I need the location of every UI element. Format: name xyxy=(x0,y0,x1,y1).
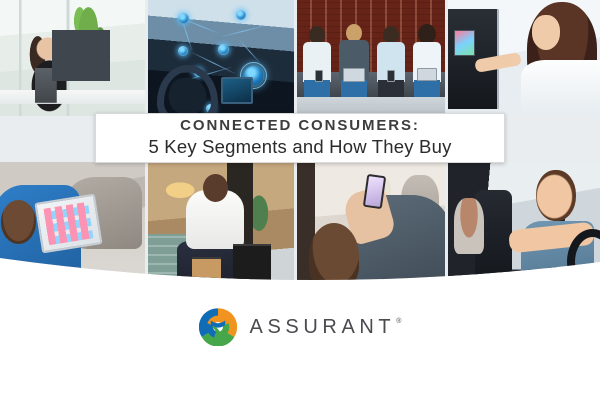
head-shape xyxy=(309,223,359,290)
person-figure xyxy=(335,18,373,116)
shopping-bag xyxy=(192,257,221,290)
person-figure xyxy=(299,18,335,116)
brand-name-text: ASSURANT xyxy=(250,316,396,339)
center-console-screen xyxy=(221,77,253,105)
assurant-wordmark: ASSURANT ® xyxy=(250,316,402,339)
blouse-shape xyxy=(521,60,600,116)
droplet-icon xyxy=(178,46,188,56)
phone-icon xyxy=(236,10,246,20)
passenger-shape xyxy=(454,198,484,254)
photo-man-driving-car xyxy=(448,162,600,290)
photo-man-steps-shopping-bags xyxy=(148,162,294,290)
tablet-device xyxy=(34,193,102,253)
page-title-primary: CONNECTED CONSUMERS: xyxy=(180,118,420,135)
car-icon xyxy=(218,44,229,55)
brand-logo: ASSURANT ® xyxy=(0,308,600,346)
person-figure xyxy=(409,18,445,116)
driver-head-shape xyxy=(536,170,576,221)
head-shape xyxy=(1,200,36,244)
registered-trademark-symbol: ® xyxy=(396,318,401,325)
smart-panel-touchscreen xyxy=(454,30,475,56)
assurant-pinwheel-icon xyxy=(199,308,237,346)
collage-row-top xyxy=(0,0,600,116)
photo-person-couch-smartphone xyxy=(297,162,445,290)
person-figure xyxy=(373,18,409,116)
photo-woman-laptop-smart-speaker xyxy=(0,0,145,116)
shopping-bag xyxy=(233,244,271,290)
cloud-icon xyxy=(178,13,189,24)
page-title-secondary: 5 Key Segments and How They Buy xyxy=(148,135,451,158)
slide-canvas: CONNECTED CONSUMERS: 5 Key Segments and … xyxy=(0,0,600,400)
head-shape xyxy=(203,174,228,202)
arm-shape xyxy=(475,52,522,72)
photo-connected-car-dashboard xyxy=(148,0,294,116)
photo-man-sofa-tablet xyxy=(0,162,145,290)
face-shape xyxy=(532,15,561,50)
photo-woman-smart-home-panel xyxy=(448,0,600,116)
photo-four-people-devices xyxy=(297,0,445,116)
collage-row-bottom xyxy=(0,162,600,290)
title-banner: CONNECTED CONSUMERS: 5 Key Segments and … xyxy=(95,113,505,163)
